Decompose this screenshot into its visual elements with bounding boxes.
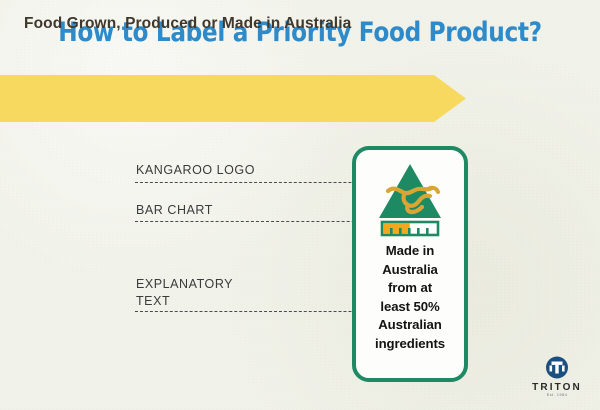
callout-explanatory-text-label: EXPLANATORY TEXT: [136, 276, 233, 310]
callout-kangaroo-logo-label: KANGAROO LOGO: [136, 163, 255, 177]
brand-tagline: Est. 1984: [528, 393, 586, 397]
label-card-text-line-1: Australia: [382, 262, 438, 277]
brand-name: TRITON: [528, 382, 586, 393]
label-card-text-line-3: least 50%: [380, 299, 439, 314]
label-card-text-line-2: from at: [388, 280, 432, 295]
infographic-canvas: How to Label a Priority Food Product? Fo…: [0, 0, 600, 410]
callout-explanatory-text-line1: EXPLANATORY: [136, 277, 233, 291]
callout-explanatory-text-line2: TEXT: [136, 294, 170, 308]
country-of-origin-label-card: Made in Australia from at least 50% Aust…: [352, 146, 468, 382]
label-card-text-line-4: Australian: [378, 317, 442, 332]
label-card-explanatory-text: Made in Australia from at least 50% Aust…: [360, 242, 460, 353]
bar-chart-icon: [382, 222, 438, 235]
banner-arrow: [0, 75, 466, 122]
triton-t-monogram-icon: [528, 356, 586, 380]
kangaroo-in-triangle-icon: [379, 164, 441, 218]
callout-bar-chart-label: BAR CHART: [136, 203, 213, 217]
label-card-text-line-5: ingredients: [375, 336, 445, 351]
paper-texture-overlay: [0, 0, 600, 410]
label-card-text-line-0: Made in: [386, 243, 434, 258]
australian-made-logo: [375, 160, 445, 238]
brand-logo: TRITON Est. 1984: [528, 356, 586, 402]
banner-label: Food Grown, Produced or Made in Australi…: [24, 0, 351, 47]
